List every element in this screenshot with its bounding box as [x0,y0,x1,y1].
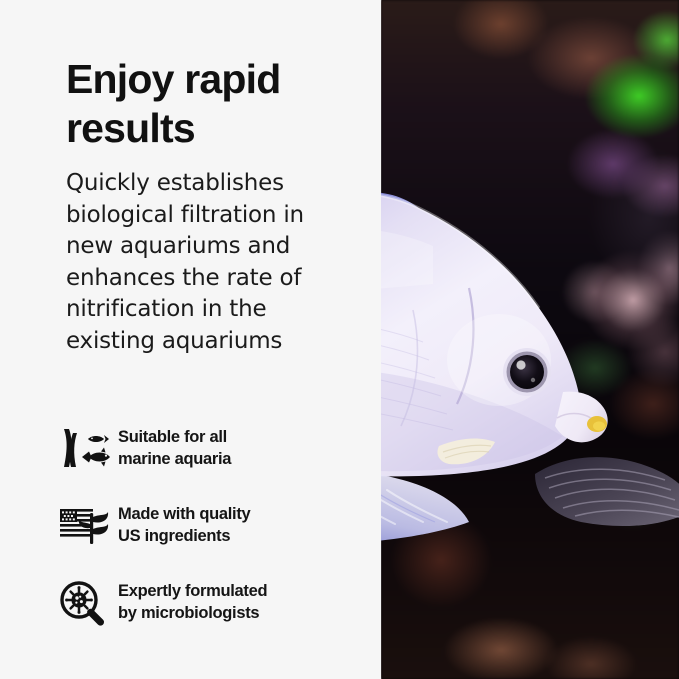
description-text: Quickly establishes biological filtratio… [66,168,326,357]
promo-page: Enjoy rapid results Quickly establishes … [0,0,679,679]
tang-fish-illustration [381,74,679,544]
list-item-label: Suitable for all marine aquaria [118,427,231,470]
list-item-label: Made with quality US ingredients [118,504,250,547]
us-flag-plant-icon [58,502,118,550]
magnifier-microbe-icon [58,579,118,627]
feature-list: Suitable for all marine aquaria [58,421,368,652]
list-item: Made with quality US ingredients [58,498,368,553]
product-photo [381,0,679,679]
page-title: Enjoy rapid results [66,55,366,153]
list-item: Expertly formulated by microbiologists [58,575,368,630]
list-item: Suitable for all marine aquaria [58,421,368,476]
list-item-label: Expertly formulated by microbiologists [118,581,267,624]
seaweed-fish-icon [58,425,118,473]
text-panel: Enjoy rapid results Quickly establishes … [0,0,381,679]
